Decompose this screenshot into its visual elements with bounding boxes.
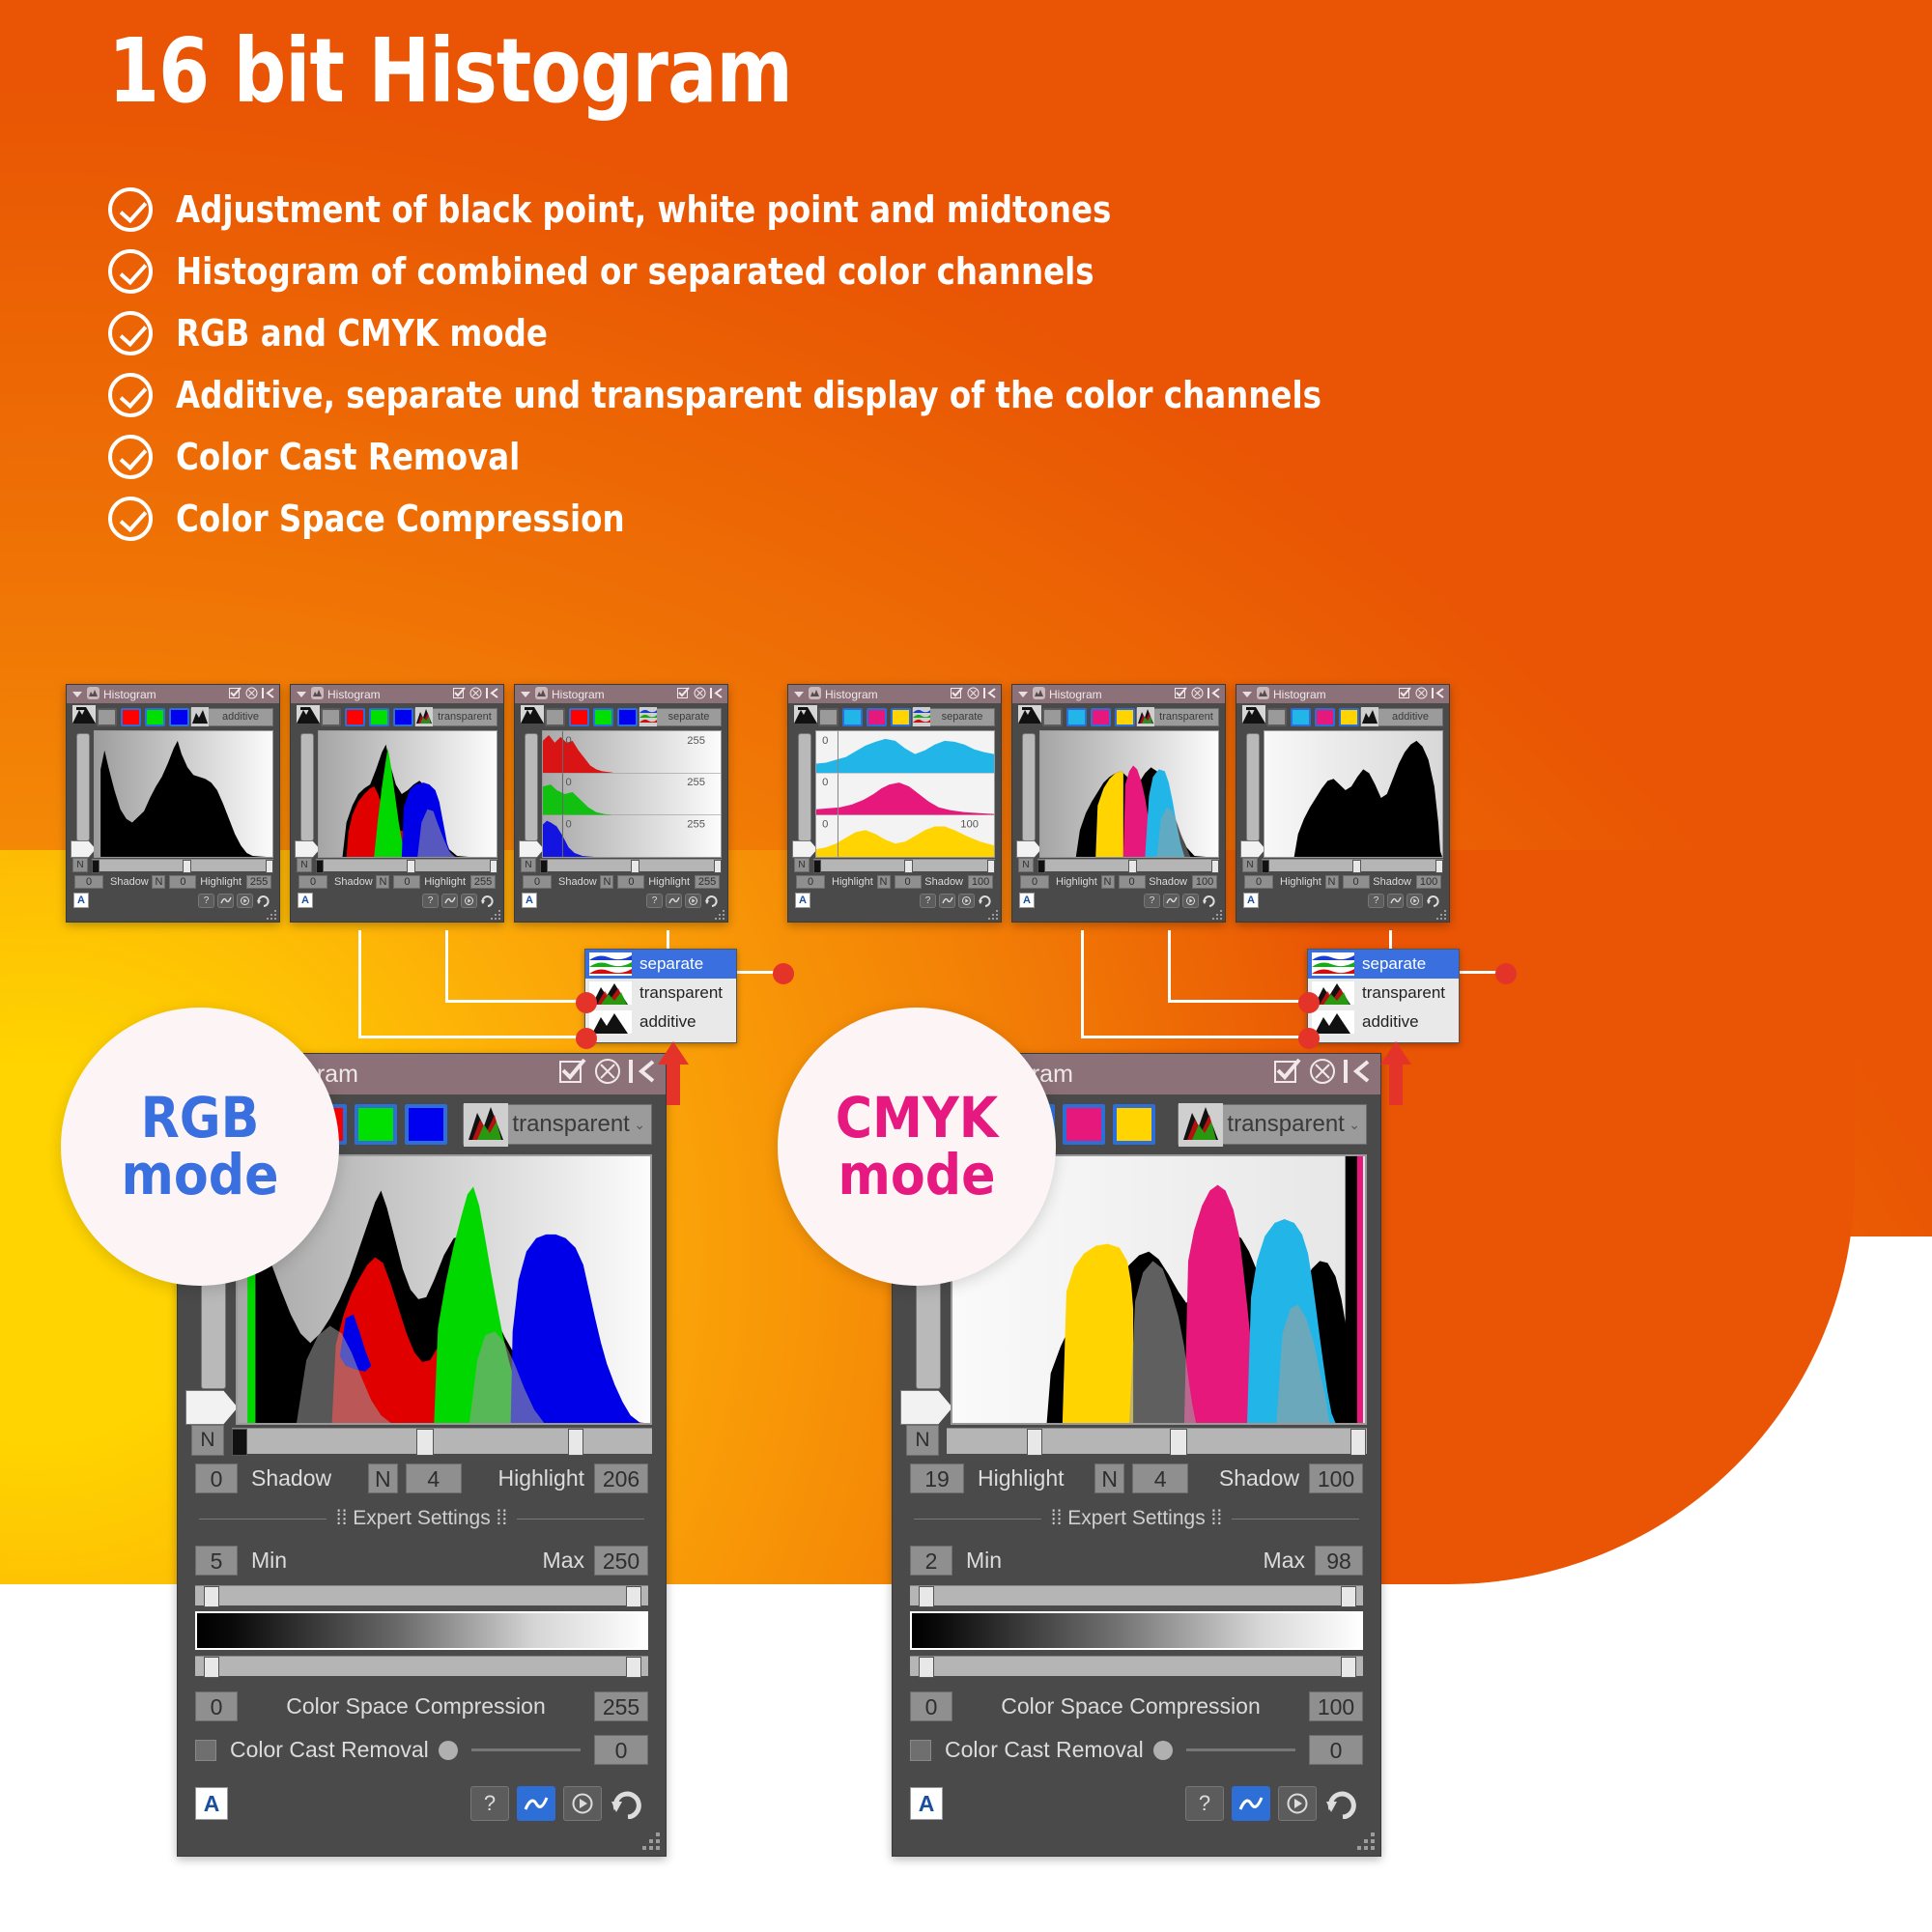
highlight-thumb[interactable] bbox=[568, 1429, 583, 1456]
collapse-left-icon[interactable] bbox=[1207, 687, 1220, 702]
histogram-plot-separate[interactable]: 0 0 0 255 255 255 bbox=[542, 730, 722, 858]
play-button[interactable] bbox=[461, 894, 477, 908]
range-slider-row[interactable]: N bbox=[788, 858, 1001, 872]
midtone-thumb[interactable] bbox=[631, 860, 639, 873]
display-mode-select[interactable]: transparent bbox=[1136, 708, 1219, 726]
channel-swatch-gray[interactable] bbox=[1266, 708, 1287, 726]
shadow-value[interactable]: 0 bbox=[298, 875, 327, 889]
curve-button[interactable] bbox=[441, 894, 458, 908]
values-row[interactable]: 0 Shadow N 4 Highlight 206 bbox=[178, 1456, 666, 1493]
channel-swatch-red[interactable] bbox=[121, 708, 141, 726]
caret-down-icon[interactable] bbox=[794, 688, 804, 701]
channel-swatch-magenta[interactable] bbox=[1315, 708, 1335, 726]
level-slider[interactable] bbox=[316, 859, 497, 871]
values-row[interactable]: 0 Shadow N 0 Highlight 255 bbox=[515, 872, 727, 889]
vertical-slider-col[interactable] bbox=[521, 730, 542, 858]
checkbox-icon[interactable] bbox=[453, 687, 466, 702]
A-logo-icon[interactable]: A bbox=[195, 1787, 228, 1820]
A-logo-icon[interactable]: A bbox=[1243, 893, 1259, 908]
level-slider[interactable] bbox=[1262, 859, 1443, 871]
highlight-value[interactable]: 255 bbox=[695, 875, 720, 889]
shadow-thumb[interactable] bbox=[1211, 860, 1219, 873]
resize-grip[interactable] bbox=[987, 908, 999, 920]
midtone-thumb[interactable] bbox=[183, 860, 191, 873]
csc-max-value[interactable]: 100 bbox=[1309, 1691, 1363, 1721]
checkbox-icon[interactable] bbox=[1175, 687, 1187, 702]
midtone-value[interactable]: 0 bbox=[169, 875, 196, 889]
close-icon[interactable] bbox=[967, 687, 980, 702]
dropdown-option-separate[interactable]: separate bbox=[585, 950, 736, 979]
actions-row[interactable]: A ? bbox=[893, 1765, 1380, 1821]
shadow-value[interactable]: 0 bbox=[74, 875, 103, 889]
curve-tool-icon[interactable] bbox=[1242, 705, 1265, 728]
display-mode-dropdown-cmyk[interactable]: separate transparent additive bbox=[1307, 949, 1460, 1043]
close-icon[interactable] bbox=[245, 687, 258, 702]
highlight-thumb[interactable] bbox=[490, 860, 497, 873]
actions-row[interactable]: A ? bbox=[1236, 889, 1449, 908]
color-cast-removal-checkbox[interactable] bbox=[195, 1740, 216, 1761]
midtone-value[interactable]: 0 bbox=[1343, 875, 1370, 889]
black-point-marker[interactable] bbox=[519, 840, 544, 858]
resize-grip[interactable] bbox=[490, 908, 501, 920]
csc-min-value[interactable]: 0 bbox=[910, 1691, 952, 1721]
window-buttons[interactable] bbox=[673, 687, 723, 702]
vertical-slider-col[interactable] bbox=[297, 730, 318, 858]
shadow-thumb[interactable] bbox=[1350, 1429, 1366, 1456]
vertical-slider-col[interactable] bbox=[1242, 730, 1264, 858]
highlight-value[interactable]: 0 bbox=[796, 875, 825, 889]
reset-button[interactable] bbox=[610, 1786, 648, 1821]
checkbox-icon[interactable] bbox=[559, 1058, 586, 1092]
histogram-plot[interactable] bbox=[318, 730, 497, 858]
curve-button[interactable] bbox=[1387, 894, 1404, 908]
A-logo-icon[interactable]: A bbox=[73, 893, 89, 908]
values-row[interactable]: 0 Highlight N 0 Shadow 100 bbox=[1236, 872, 1449, 889]
color-cast-removal-row[interactable]: Color Cast Removal 0 bbox=[178, 1721, 666, 1765]
window-titlebar[interactable]: Histogram bbox=[1236, 685, 1449, 703]
window-titlebar[interactable]: Histogram bbox=[291, 685, 503, 703]
channel-swatch-gray[interactable] bbox=[321, 708, 341, 726]
curve-button[interactable] bbox=[517, 1786, 555, 1821]
curve-tool-icon[interactable] bbox=[72, 705, 96, 728]
gamma-slider[interactable] bbox=[76, 733, 90, 841]
max-low-thumb[interactable] bbox=[919, 1657, 934, 1678]
black-point-marker[interactable] bbox=[185, 1390, 238, 1425]
level-slider[interactable] bbox=[232, 1428, 652, 1454]
shadow-thumb[interactable] bbox=[1435, 860, 1443, 873]
color-space-compression-row[interactable]: 0 Color Space Compression 255 bbox=[178, 1676, 666, 1721]
ccr-slider-handle[interactable] bbox=[439, 1741, 458, 1760]
min-value[interactable]: 2 bbox=[910, 1546, 952, 1576]
histogram-window-cmyk-additive[interactable]: Histogram additive bbox=[1236, 684, 1450, 923]
tone-gradient-bar[interactable] bbox=[910, 1611, 1363, 1650]
histogram-window-rgb-additive[interactable]: Histogram additive bbox=[66, 684, 280, 923]
highlight-thumb[interactable] bbox=[266, 860, 273, 873]
channel-toolbar[interactable]: transparent bbox=[1012, 703, 1225, 730]
minmax-row[interactable]: 2 Min Max 98 bbox=[893, 1530, 1380, 1576]
reset-button[interactable] bbox=[480, 894, 497, 908]
highlight-value[interactable]: 0 bbox=[1244, 875, 1273, 889]
resize-grip[interactable] bbox=[637, 1827, 662, 1852]
channel-swatch-magenta[interactable] bbox=[1063, 1104, 1105, 1145]
checkbox-icon[interactable] bbox=[951, 687, 963, 702]
window-titlebar[interactable]: Histogram bbox=[788, 685, 1001, 703]
range-slider-row[interactable]: N bbox=[1236, 858, 1449, 872]
shadow-thumb[interactable] bbox=[92, 860, 99, 873]
ccr-slider-track[interactable] bbox=[471, 1748, 581, 1751]
caret-down-icon[interactable] bbox=[1018, 688, 1028, 701]
chevron-down-icon[interactable]: ⌄ bbox=[1349, 1117, 1366, 1133]
channel-swatch-yellow[interactable] bbox=[1115, 708, 1135, 726]
close-icon[interactable] bbox=[469, 687, 482, 702]
midtone-value[interactable]: 0 bbox=[1119, 875, 1146, 889]
reset-button[interactable] bbox=[978, 894, 994, 908]
channel-swatch-yellow[interactable] bbox=[1113, 1104, 1155, 1145]
channel-swatch-green[interactable] bbox=[355, 1104, 397, 1145]
channel-toolbar[interactable]: additive bbox=[1236, 703, 1449, 730]
A-logo-icon[interactable]: A bbox=[795, 893, 810, 908]
dropdown-option-transparent[interactable]: transparent bbox=[585, 979, 736, 1008]
actions-row[interactable]: A ? bbox=[178, 1765, 666, 1821]
black-point-marker[interactable] bbox=[900, 1390, 952, 1425]
shadow-thumb[interactable] bbox=[813, 860, 821, 873]
display-mode-select[interactable]: transparent ⌄ bbox=[1178, 1104, 1367, 1145]
histogram-window-rgb-separate[interactable]: Histogram separate bbox=[514, 684, 728, 923]
range-slider-row[interactable]: N bbox=[515, 858, 727, 872]
expert-settings-divider[interactable]: ⁞⁞ Expert Settings ⁞⁞ bbox=[893, 1493, 1380, 1530]
collapse-left-icon[interactable] bbox=[629, 1058, 656, 1092]
highlight-thumb[interactable] bbox=[714, 860, 722, 873]
channel-swatch-cyan[interactable] bbox=[1066, 708, 1087, 726]
curve-tool-icon[interactable] bbox=[521, 705, 544, 728]
min-max-thumb[interactable] bbox=[1341, 1586, 1356, 1607]
min-slider[interactable] bbox=[910, 1585, 1363, 1605]
midtone-value[interactable]: 0 bbox=[393, 875, 420, 889]
gamma-slider[interactable] bbox=[1022, 733, 1036, 841]
highlight-value[interactable]: 255 bbox=[246, 875, 271, 889]
channel-swatch-yellow[interactable] bbox=[891, 708, 911, 726]
normalize-badge[interactable]: N bbox=[521, 858, 536, 872]
highlight-thumb[interactable] bbox=[987, 860, 995, 873]
actions-row[interactable]: A ? bbox=[67, 889, 279, 908]
ccr-slider-handle[interactable] bbox=[1153, 1741, 1173, 1760]
resize-grip[interactable] bbox=[1211, 908, 1223, 920]
min-max-thumb[interactable] bbox=[626, 1586, 641, 1607]
ccr-slider-track[interactable] bbox=[1186, 1748, 1295, 1751]
histogram-plot-separate[interactable]: 0 0 0 100 bbox=[815, 730, 995, 858]
display-mode-select[interactable]: transparent bbox=[414, 708, 497, 726]
black-point-marker[interactable] bbox=[792, 840, 817, 858]
csc-min-value[interactable]: 0 bbox=[195, 1691, 238, 1721]
channel-swatch-magenta[interactable] bbox=[1091, 708, 1111, 726]
channel-swatch-cyan[interactable] bbox=[842, 708, 863, 726]
normalize-badge[interactable]: N bbox=[72, 858, 88, 872]
color-space-compression-row[interactable]: 0 Color Space Compression 100 bbox=[893, 1676, 1380, 1721]
csc-max-value[interactable]: 255 bbox=[594, 1691, 648, 1721]
ccr-value[interactable]: 0 bbox=[1309, 1735, 1363, 1765]
values-row[interactable]: 0 Highlight N 0 Shadow 100 bbox=[788, 872, 1001, 889]
caret-down-icon[interactable] bbox=[1242, 688, 1252, 701]
dropdown-option-additive[interactable]: additive bbox=[1308, 1008, 1459, 1037]
min-thumb[interactable] bbox=[204, 1586, 219, 1607]
highlight-thumb[interactable] bbox=[1037, 860, 1045, 873]
checkbox-icon[interactable] bbox=[677, 687, 690, 702]
histogram-window-cmyk-separate[interactable]: Histogram separate bbox=[787, 684, 1002, 923]
checkbox-icon[interactable] bbox=[229, 687, 241, 702]
reset-button[interactable] bbox=[704, 894, 721, 908]
chevron-down-icon[interactable]: ⌄ bbox=[634, 1117, 651, 1133]
level-slider[interactable] bbox=[1037, 859, 1219, 871]
midtone-value[interactable]: 4 bbox=[1132, 1463, 1188, 1493]
max-slider[interactable] bbox=[195, 1656, 648, 1676]
shadow-value[interactable]: 100 bbox=[1309, 1463, 1363, 1493]
A-logo-icon[interactable]: A bbox=[522, 893, 537, 908]
window-buttons[interactable] bbox=[1266, 1058, 1371, 1092]
level-slider[interactable] bbox=[813, 859, 995, 871]
channel-swatch-gray[interactable] bbox=[818, 708, 838, 726]
expert-settings-divider[interactable]: ⁞⁞ Expert Settings ⁞⁞ bbox=[178, 1493, 666, 1530]
shadow-thumb[interactable] bbox=[232, 1429, 247, 1456]
actions-row[interactable]: A ? bbox=[788, 889, 1001, 908]
n-badge[interactable]: N bbox=[1094, 1463, 1124, 1493]
curve-tool-icon[interactable] bbox=[1018, 705, 1041, 728]
window-buttons[interactable] bbox=[552, 1058, 656, 1092]
resize-grip[interactable] bbox=[1435, 908, 1447, 920]
help-button[interactable]: ? bbox=[198, 894, 214, 908]
normalize-badge[interactable]: N bbox=[1242, 858, 1258, 872]
display-mode-select[interactable]: separate bbox=[912, 708, 995, 726]
window-titlebar[interactable]: Histogram bbox=[515, 685, 727, 703]
close-icon[interactable] bbox=[1191, 687, 1204, 702]
histogram-window-rgb-transparent[interactable]: Histogram transparent bbox=[290, 684, 504, 923]
gradient-sliders[interactable] bbox=[178, 1576, 666, 1676]
actions-row[interactable]: A ? bbox=[1012, 889, 1225, 908]
max-value[interactable]: 98 bbox=[1315, 1546, 1363, 1576]
window-titlebar[interactable]: Histogram bbox=[67, 685, 279, 703]
channel-swatch-green[interactable] bbox=[145, 708, 165, 726]
tone-gradient-bar[interactable] bbox=[195, 1611, 648, 1650]
highlight-value[interactable]: 0 bbox=[1020, 875, 1049, 889]
window-buttons[interactable] bbox=[449, 687, 498, 702]
channel-swatch-magenta[interactable] bbox=[867, 708, 887, 726]
help-button[interactable]: ? bbox=[1144, 894, 1160, 908]
gamma-slider[interactable] bbox=[1246, 733, 1260, 841]
dropdown-option-separate[interactable]: separate bbox=[1308, 950, 1459, 979]
channel-swatch-blue[interactable] bbox=[617, 708, 638, 726]
n-badge[interactable]: N bbox=[877, 875, 891, 889]
help-button[interactable]: ? bbox=[646, 894, 663, 908]
shadow-value[interactable]: 100 bbox=[1192, 875, 1217, 889]
range-slider-row[interactable]: N bbox=[893, 1425, 1380, 1456]
window-buttons[interactable] bbox=[1171, 687, 1220, 702]
histogram-plot[interactable] bbox=[1039, 730, 1219, 858]
midtone-thumb[interactable] bbox=[407, 860, 415, 873]
collapse-left-icon[interactable] bbox=[486, 687, 498, 702]
values-row[interactable]: 0 Shadow N 0 Highlight 255 bbox=[291, 872, 503, 889]
histogram-plot[interactable] bbox=[1264, 730, 1443, 858]
highlight-value[interactable]: 206 bbox=[594, 1463, 648, 1493]
play-button[interactable] bbox=[237, 894, 253, 908]
curve-button[interactable] bbox=[217, 894, 234, 908]
shadow-value[interactable]: 0 bbox=[523, 875, 552, 889]
channel-swatch-gray[interactable] bbox=[97, 708, 117, 726]
curve-tool-icon[interactable] bbox=[297, 705, 320, 728]
display-mode-select[interactable]: separate bbox=[639, 708, 722, 726]
resize-grip[interactable] bbox=[266, 908, 277, 920]
range-slider-row[interactable]: N bbox=[291, 858, 503, 872]
curve-tool-icon[interactable] bbox=[794, 705, 817, 728]
checkbox-icon[interactable] bbox=[1274, 1058, 1301, 1092]
ccr-value[interactable]: 0 bbox=[594, 1735, 648, 1765]
normalize-badge[interactable]: N bbox=[906, 1425, 939, 1456]
shadow-thumb[interactable] bbox=[540, 860, 548, 873]
values-row[interactable]: 19 Highlight N 4 Shadow 100 bbox=[893, 1456, 1380, 1493]
resize-grip[interactable] bbox=[714, 908, 725, 920]
channel-swatch-cyan[interactable] bbox=[1291, 708, 1311, 726]
black-point-marker[interactable] bbox=[295, 840, 320, 858]
max-slider[interactable] bbox=[910, 1656, 1363, 1676]
n-badge[interactable]: N bbox=[1325, 875, 1339, 889]
max-high-thumb[interactable] bbox=[1341, 1657, 1356, 1678]
n-badge[interactable]: N bbox=[600, 875, 613, 889]
highlight-thumb[interactable] bbox=[1262, 860, 1269, 873]
range-slider-row[interactable]: N bbox=[67, 858, 279, 872]
histogram-window-cmyk-transparent[interactable]: Histogram transparent bbox=[1011, 684, 1226, 923]
shadow-value[interactable]: 0 bbox=[195, 1463, 238, 1493]
midtone-thumb[interactable] bbox=[416, 1429, 434, 1456]
midtone-value[interactable]: 4 bbox=[406, 1463, 462, 1493]
normalize-badge[interactable]: N bbox=[297, 858, 312, 872]
min-slider[interactable] bbox=[195, 1585, 648, 1605]
reset-button[interactable] bbox=[1202, 894, 1218, 908]
actions-row[interactable]: A ? bbox=[291, 889, 503, 908]
actions-row[interactable]: A ? bbox=[515, 889, 727, 908]
midtone-value[interactable]: 0 bbox=[895, 875, 922, 889]
black-point-marker[interactable] bbox=[71, 840, 96, 858]
display-mode-select[interactable]: additive bbox=[190, 708, 273, 726]
level-slider[interactable] bbox=[92, 859, 273, 871]
help-button[interactable]: ? bbox=[422, 894, 439, 908]
play-button[interactable] bbox=[958, 894, 975, 908]
channel-toolbar[interactable]: separate bbox=[515, 703, 727, 730]
curve-button[interactable] bbox=[1163, 894, 1179, 908]
window-buttons[interactable] bbox=[947, 687, 996, 702]
max-high-thumb[interactable] bbox=[626, 1657, 641, 1678]
channel-swatch-gray[interactable] bbox=[545, 708, 565, 726]
channel-swatch-gray[interactable] bbox=[1042, 708, 1063, 726]
channel-swatch-blue[interactable] bbox=[405, 1104, 447, 1145]
reset-button[interactable] bbox=[256, 894, 272, 908]
normalize-badge[interactable]: N bbox=[191, 1425, 224, 1456]
caret-down-icon[interactable] bbox=[521, 688, 530, 701]
reset-button[interactable] bbox=[1324, 1786, 1363, 1821]
dropdown-option-additive[interactable]: additive bbox=[585, 1008, 736, 1037]
minmax-row[interactable]: 5 Min Max 250 bbox=[178, 1530, 666, 1576]
channel-swatch-red[interactable] bbox=[345, 708, 365, 726]
display-mode-dropdown-rgb[interactable]: separate transparent additive bbox=[584, 949, 737, 1043]
caret-down-icon[interactable] bbox=[72, 688, 82, 701]
midtone-value[interactable]: 0 bbox=[617, 875, 644, 889]
black-point-marker[interactable] bbox=[1240, 840, 1265, 858]
color-cast-removal-checkbox[interactable] bbox=[910, 1740, 931, 1761]
collapse-left-icon[interactable] bbox=[1432, 687, 1444, 702]
max-value[interactable]: 250 bbox=[594, 1546, 648, 1576]
gamma-slider[interactable] bbox=[525, 733, 538, 841]
gamma-slider[interactable] bbox=[300, 733, 314, 841]
curve-button[interactable] bbox=[1232, 1786, 1270, 1821]
highlight-value[interactable]: 19 bbox=[910, 1463, 964, 1493]
channel-swatch-green[interactable] bbox=[369, 708, 389, 726]
A-logo-icon[interactable]: A bbox=[1019, 893, 1035, 908]
close-icon[interactable] bbox=[1415, 687, 1428, 702]
n-badge[interactable]: N bbox=[376, 875, 389, 889]
caret-down-icon[interactable] bbox=[297, 688, 306, 701]
color-cast-removal-row[interactable]: Color Cast Removal 0 bbox=[893, 1721, 1380, 1765]
play-button[interactable] bbox=[1278, 1786, 1317, 1821]
collapse-left-icon[interactable] bbox=[710, 687, 723, 702]
normalize-badge[interactable]: N bbox=[1018, 858, 1034, 872]
midtone-thumb[interactable] bbox=[1170, 1429, 1187, 1456]
A-logo-icon[interactable]: A bbox=[910, 1787, 943, 1820]
channel-swatch-green[interactable] bbox=[593, 708, 613, 726]
play-button[interactable] bbox=[1182, 894, 1199, 908]
help-button[interactable]: ? bbox=[470, 1786, 509, 1821]
channel-toolbar[interactable]: additive bbox=[67, 703, 279, 730]
min-thumb[interactable] bbox=[919, 1586, 934, 1607]
n-badge[interactable]: N bbox=[1101, 875, 1115, 889]
min-value[interactable]: 5 bbox=[195, 1546, 238, 1576]
channel-toolbar[interactable]: separate bbox=[788, 703, 1001, 730]
normalize-badge[interactable]: N bbox=[794, 858, 810, 872]
max-low-thumb[interactable] bbox=[204, 1657, 219, 1678]
midtone-thumb[interactable] bbox=[1128, 860, 1137, 873]
help-button[interactable]: ? bbox=[1185, 1786, 1224, 1821]
black-point-marker[interactable] bbox=[1016, 840, 1041, 858]
shadow-value[interactable]: 100 bbox=[968, 875, 993, 889]
midtone-thumb[interactable] bbox=[1352, 860, 1361, 873]
values-row[interactable]: 0 Highlight N 0 Shadow 100 bbox=[1012, 872, 1225, 889]
collapse-left-icon[interactable] bbox=[262, 687, 274, 702]
play-button[interactable] bbox=[1406, 894, 1423, 908]
n-badge[interactable]: N bbox=[368, 1463, 398, 1493]
values-row[interactable]: 0 Shadow N 0 Highlight 255 bbox=[67, 872, 279, 889]
close-icon[interactable] bbox=[594, 1058, 621, 1092]
resize-grip[interactable] bbox=[1351, 1827, 1377, 1852]
channel-swatch-red[interactable] bbox=[569, 708, 589, 726]
range-slider-row[interactable]: N bbox=[178, 1425, 666, 1456]
dropdown-option-transparent[interactable]: transparent bbox=[1308, 979, 1459, 1008]
range-slider-row[interactable]: N bbox=[1012, 858, 1225, 872]
vertical-slider-col[interactable] bbox=[72, 730, 94, 858]
display-mode-select[interactable]: additive bbox=[1360, 708, 1443, 726]
channel-swatch-blue[interactable] bbox=[169, 708, 189, 726]
midtone-thumb[interactable] bbox=[904, 860, 913, 873]
channel-toolbar[interactable]: transparent bbox=[291, 703, 503, 730]
vertical-slider-col[interactable] bbox=[1018, 730, 1039, 858]
histogram-plot[interactable] bbox=[94, 730, 273, 858]
highlight-value[interactable]: 255 bbox=[470, 875, 496, 889]
level-slider[interactable] bbox=[947, 1428, 1367, 1454]
collapse-left-icon[interactable] bbox=[983, 687, 996, 702]
play-button[interactable] bbox=[563, 1786, 602, 1821]
shadow-value[interactable]: 100 bbox=[1416, 875, 1441, 889]
channel-swatch-blue[interactable] bbox=[393, 708, 413, 726]
curve-button[interactable] bbox=[666, 894, 682, 908]
gradient-sliders[interactable] bbox=[893, 1576, 1380, 1676]
gamma-slider[interactable] bbox=[798, 733, 811, 841]
A-logo-icon[interactable]: A bbox=[298, 893, 313, 908]
window-buttons[interactable] bbox=[1395, 687, 1444, 702]
